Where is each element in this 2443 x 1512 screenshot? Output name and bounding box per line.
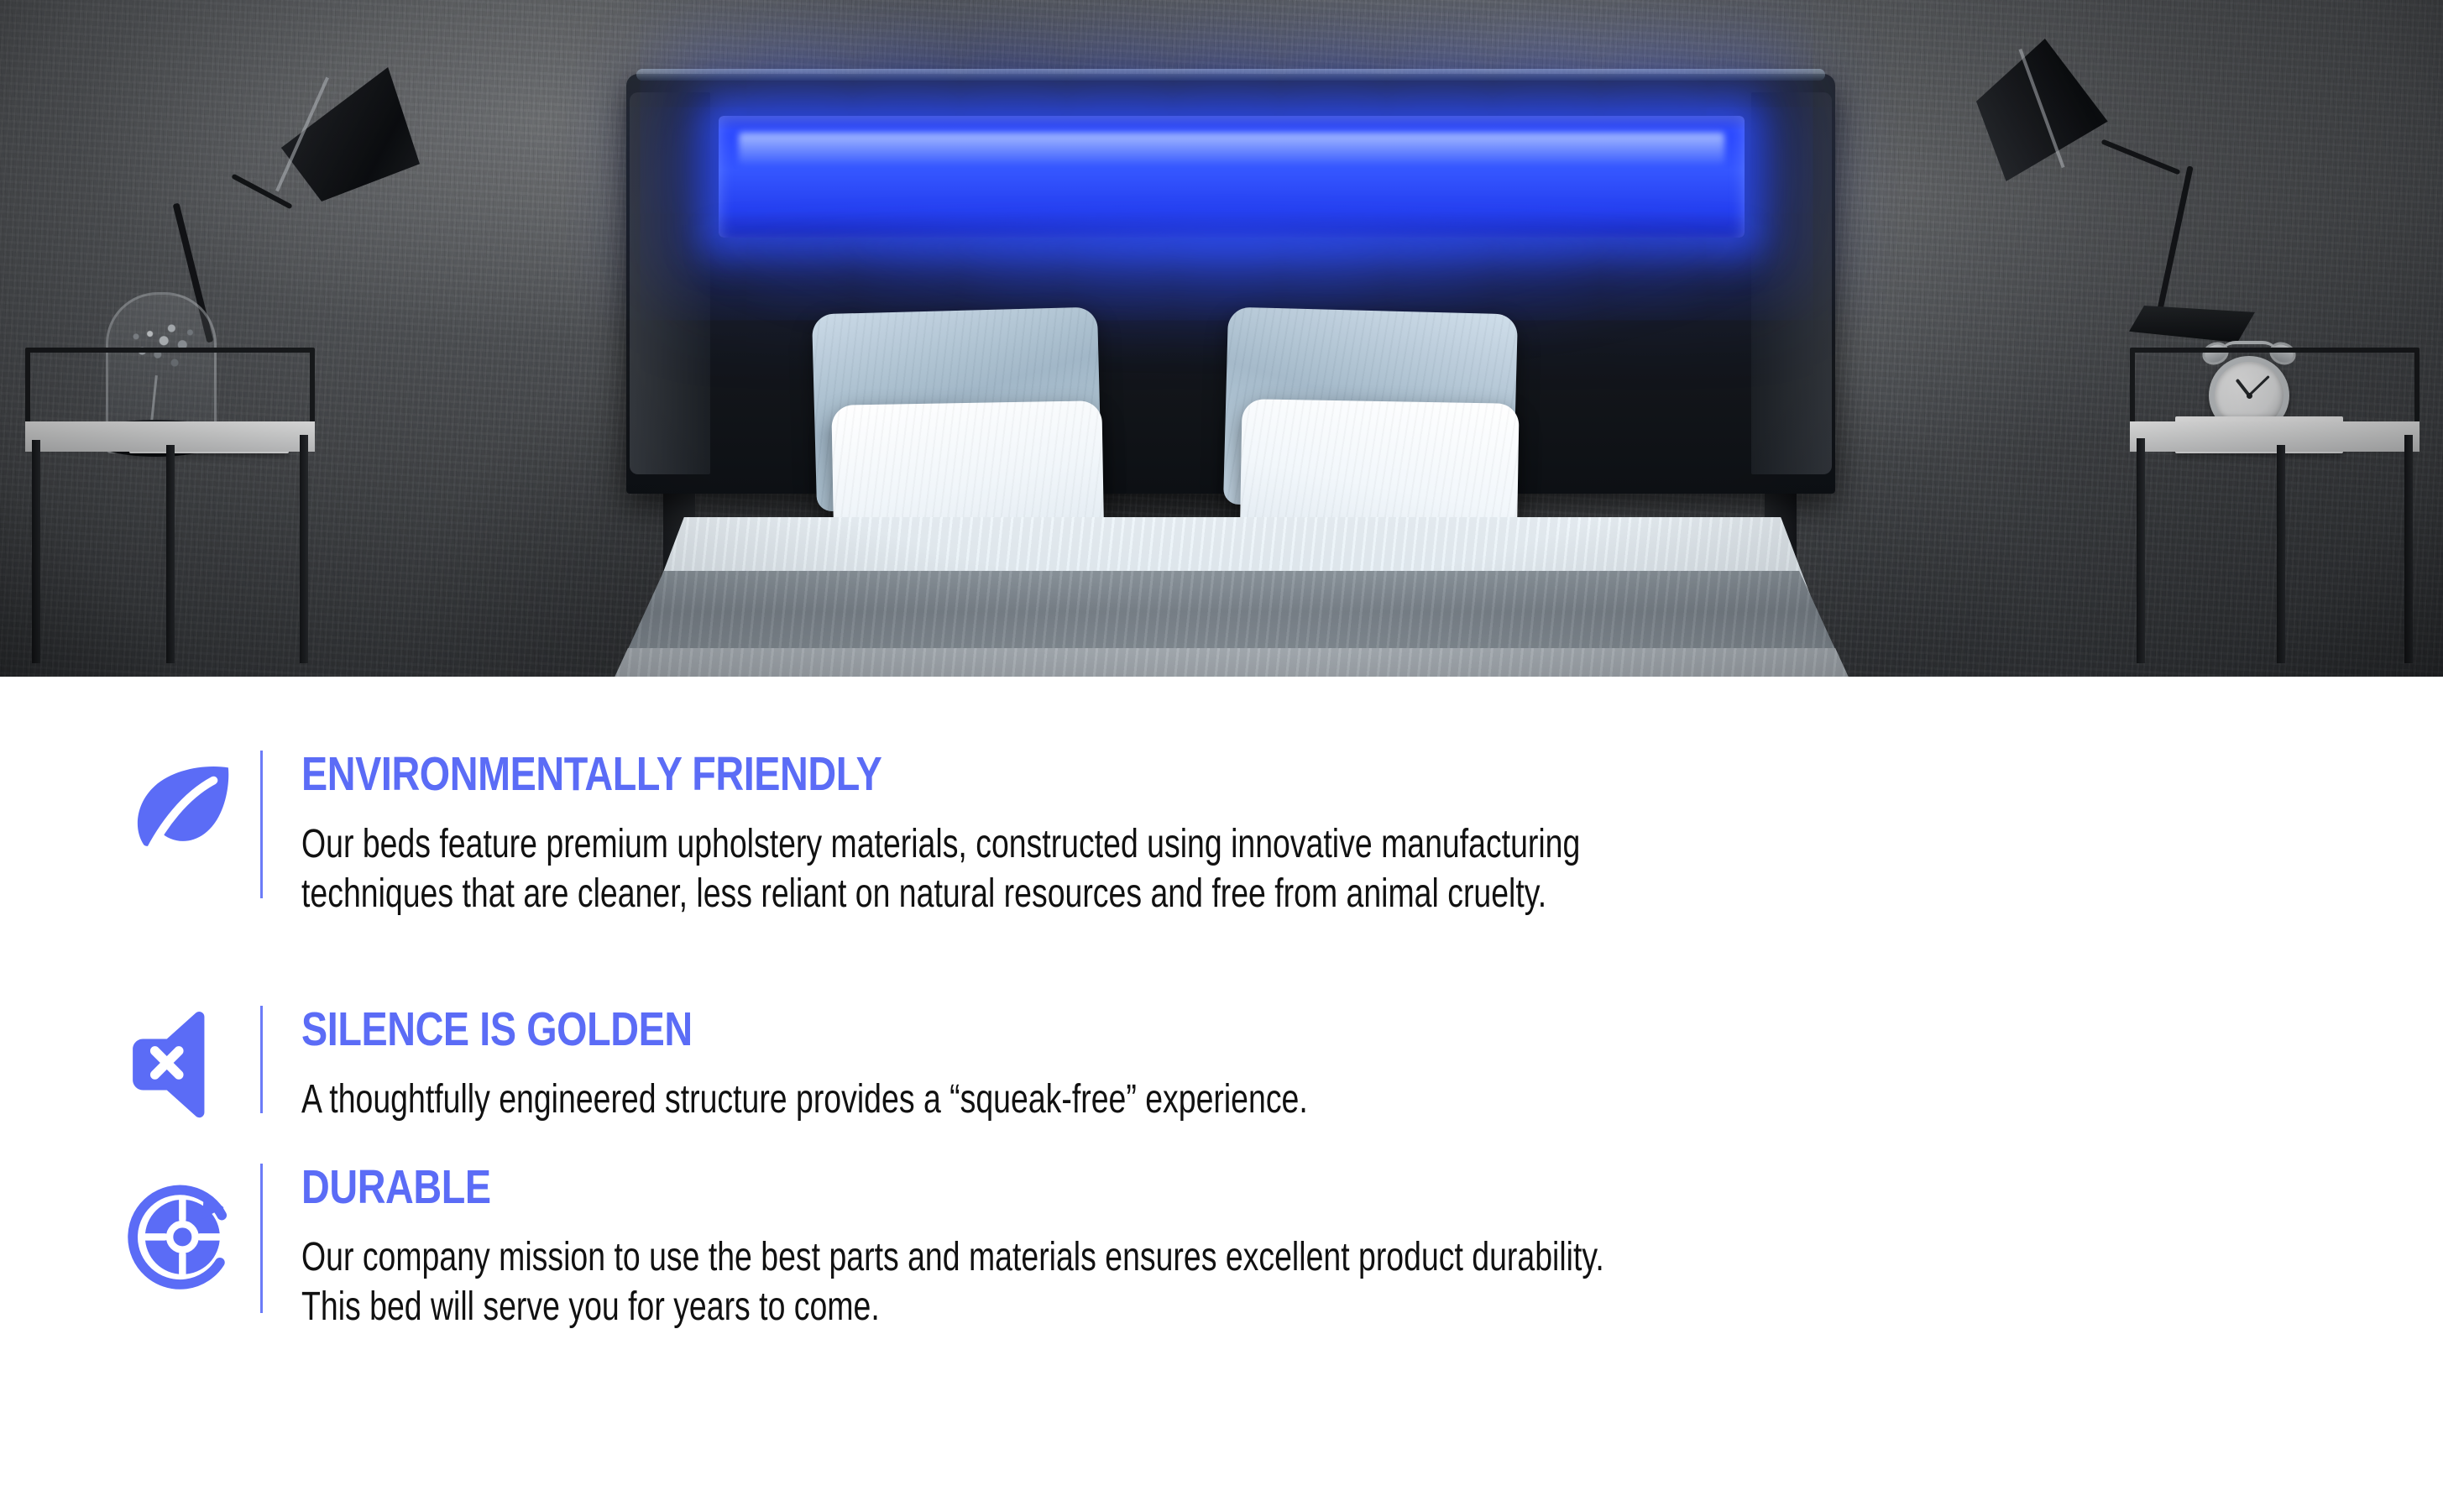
feature-description: A thoughtfully engineered structure prov… (301, 1075, 1308, 1125)
features-section: ENVIRONMENTALLY FRIENDLY Our beds featur… (0, 677, 2443, 1512)
nightstand-tabletop (2130, 421, 2419, 452)
feature-title: ENVIRONMENTALLY FRIENDLY (301, 751, 1645, 798)
leaf-icon (101, 751, 260, 876)
nightstand-leg (32, 440, 40, 663)
feature-description-line: Our beds feature premium upholstery mate… (301, 820, 1580, 870)
nightstand-leg (166, 445, 175, 663)
feature-description-line: This bed will serve you for years to com… (301, 1283, 1604, 1332)
feature-durable: DURABLE Our company mission to use the b… (101, 1164, 1971, 1332)
nightstand-leg (2277, 445, 2285, 663)
led-core-glow (739, 133, 1724, 165)
feature-body: SILENCE IS GOLDEN A thoughtfully enginee… (301, 1006, 1592, 1125)
feature-description-line: techniques that are cleaner, less relian… (301, 870, 1580, 919)
nightstand-leg (2137, 438, 2145, 663)
feature-divider (260, 751, 263, 898)
led-light-strip (719, 116, 1745, 238)
right-desk-lamp (1964, 39, 2317, 349)
feature-body: ENVIRONMENTALLY FRIENDLY Our beds featur… (301, 751, 1941, 918)
product-feature-page: Yet another art book (0, 0, 2443, 1512)
nightstand-leg (2404, 435, 2413, 663)
feature-environmentally-friendly: ENVIRONMENTALLY FRIENDLY Our beds featur… (101, 751, 1941, 918)
lamp-arm-upper (2101, 139, 2181, 175)
feature-divider (260, 1006, 263, 1113)
feature-divider (260, 1164, 263, 1313)
feature-description-line: A thoughtfully engineered structure prov… (301, 1075, 1308, 1125)
lamp-arm-lower (2154, 165, 2193, 322)
right-nightstand (2130, 327, 2419, 663)
nightstand-leg (300, 435, 308, 663)
lamp-shade-icon (275, 67, 420, 201)
lamp-shade-icon (1976, 39, 2126, 181)
bed (537, 50, 1922, 677)
feature-title: SILENCE IS GOLDEN (301, 1006, 1359, 1054)
feature-description: Our company mission to use the best part… (301, 1233, 1604, 1332)
hero-bedroom-image: Yet another art book (0, 0, 2443, 677)
headboard-left-panel (630, 92, 710, 474)
feature-description-line: Our company mission to use the best part… (301, 1233, 1604, 1283)
left-nightstand: Yet another art book (25, 327, 315, 663)
headboard-right-panel (1751, 92, 1832, 474)
mute-speaker-icon (101, 1006, 260, 1123)
feature-description: Our beds feature premium upholstery mate… (301, 820, 1580, 918)
feature-body: DURABLE Our company mission to use the b… (301, 1164, 1971, 1332)
clock-refresh-icon (101, 1164, 260, 1306)
feature-title: DURABLE (301, 1164, 1671, 1211)
feature-silence-is-golden: SILENCE IS GOLDEN A thoughtfully enginee… (101, 1006, 1592, 1125)
bed-blanket (589, 648, 1874, 677)
headboard-top-edge (636, 69, 1825, 81)
